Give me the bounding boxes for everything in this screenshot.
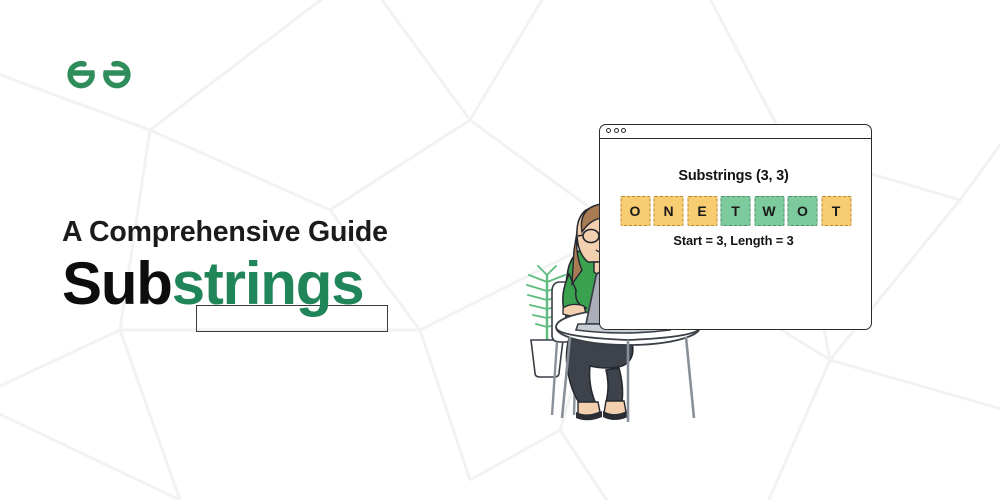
- window-dot-maximize-icon[interactable]: [621, 128, 626, 133]
- substring-caption: Start = 3, Length = 3: [600, 233, 871, 248]
- window-dot-close-icon[interactable]: [606, 128, 611, 133]
- letter-tile-highlighted: W: [754, 196, 784, 226]
- letter-tile-highlighted: T: [721, 196, 751, 226]
- headline-eyebrow: A Comprehensive Guide: [62, 218, 482, 247]
- substrings-heading: Substrings (3, 3): [600, 168, 871, 184]
- browser-window-mock: Substrings (3, 3) O N E T W O T Start = …: [599, 124, 872, 330]
- substring-tiles-row: O N E T W O T: [620, 196, 851, 226]
- headline-block: A Comprehensive Guide Substrings: [62, 218, 482, 314]
- window-dot-minimize-icon[interactable]: [614, 128, 619, 133]
- letter-tile: O: [620, 196, 650, 226]
- browser-titlebar: [600, 125, 871, 139]
- page-title-accent: strings: [172, 250, 364, 317]
- window-controls: [606, 128, 626, 133]
- page-title-prefix: Sub: [62, 250, 172, 317]
- letter-tile: E: [687, 196, 717, 226]
- geeksforgeeks-logo-icon: [62, 47, 136, 97]
- letter-tile: N: [654, 196, 684, 226]
- page-title: Substrings: [62, 254, 482, 314]
- letter-tile-highlighted: O: [788, 196, 818, 226]
- hero-banner: A Comprehensive Guide Substrings: [0, 0, 1000, 500]
- letter-tile: T: [821, 196, 851, 226]
